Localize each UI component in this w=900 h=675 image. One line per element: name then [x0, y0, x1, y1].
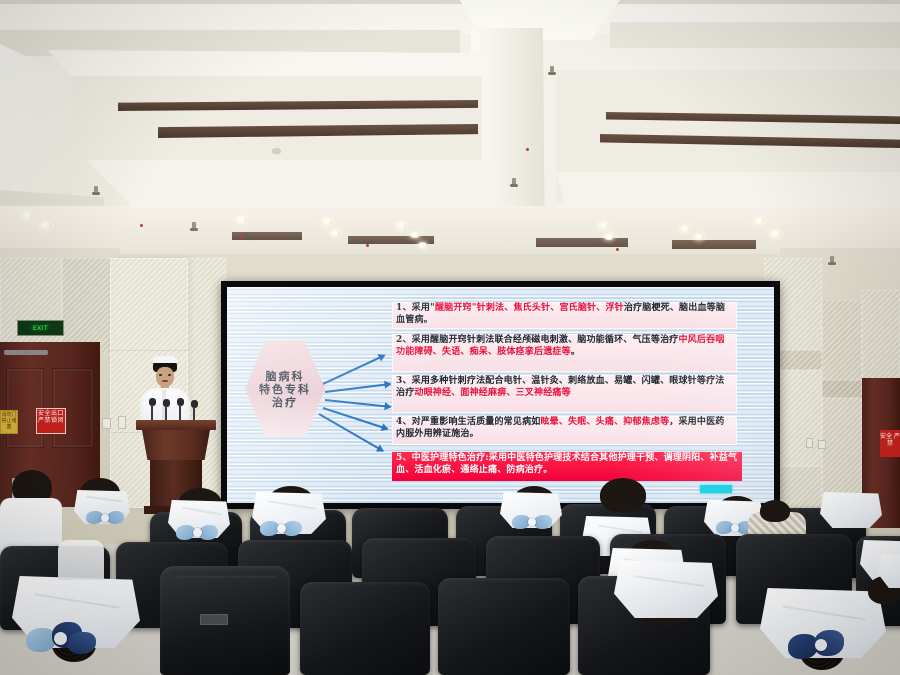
- cap-bow: [260, 520, 302, 537]
- bullet-text-3: 3、采用多种针刺疗法配合电针、温针灸、刺络放血、易罐、闪罐、眼球针等疗法治疗动眼…: [396, 376, 733, 399]
- slide-bullet: 3、采用多种针刺疗法配合电针、温针灸、刺络放血、易罐、闪罐、眼球针等疗法治疗动眼…: [392, 375, 737, 413]
- bullet-seg-red: 醒脑开窍"针刺法、焦氏头针、宫氏脑针、浮针: [435, 303, 624, 313]
- hex-title-line: 脑病科: [266, 370, 305, 383]
- power-outlet[interactable]: [818, 440, 826, 449]
- connector-arrow: [325, 383, 391, 393]
- wall-panel: [822, 380, 862, 398]
- hex-title-line: 特色专科: [259, 383, 311, 396]
- ceiling-downlight: [754, 218, 764, 224]
- ceiling-downlight: [330, 230, 340, 236]
- slide-bullet: 2、采用醒脑开窍针刺法联合经颅磁电刺激、脑功能循环、气压等治疗中风后吞咽功能障碍…: [392, 334, 737, 372]
- sprinkler-head: [192, 222, 196, 230]
- bullet-text-2: 2、采用醒脑开窍针刺法联合经颅磁电刺激、脑功能循环、气压等治疗中风后吞咽功能障碍…: [396, 335, 733, 358]
- slide-bullet-highlighted: 5、中医护理特色治疗:采用中医特色护理技术结合其他护理干预、调理阴阳、补益气血、…: [392, 452, 742, 481]
- bullet-seg: 4、对严重影响生活质量的常见病如: [396, 417, 540, 427]
- connector-arrow: [323, 354, 385, 385]
- presenter-face: [156, 367, 174, 387]
- bullet-seg: 5、中医护理特色治疗:采用中医特色护理技术结合其他护理干预、调理阴阳、补益气血、…: [396, 453, 737, 475]
- smoke-detector: [272, 148, 281, 153]
- ceiling-downlight: [236, 216, 247, 223]
- door-closer: [4, 350, 48, 355]
- bullet-seg-red: 动眼神经、面神经麻痹、三叉神经痛等: [414, 388, 570, 398]
- connector-arrow: [325, 399, 391, 408]
- podium-top: [136, 420, 216, 430]
- ceiling-downlight: [322, 218, 332, 225]
- bullet-text-5: 5、中医护理特色治疗:采用中医特色护理技术结合其他护理干预、调理阴阳、补益气血、…: [396, 453, 738, 476]
- ceiling-downlight: [396, 222, 406, 229]
- attendee-head: [600, 478, 646, 512]
- connector-arrow: [323, 407, 388, 430]
- slide-hexagon-title: 脑病科 特色专科 治疗: [245, 341, 325, 437]
- bullet-text-1: 1、采用"醒脑开窍"针刺法、焦氏头针、宫氏脑针、浮针治疗脑梗死、脑出血等脑血管病…: [396, 303, 733, 326]
- connector-arrow: [319, 413, 384, 452]
- wall-panel: [822, 398, 862, 508]
- exit-sign-label: EXIT: [33, 325, 48, 332]
- nurse-cap: [820, 492, 882, 528]
- wall-panel: [862, 290, 900, 380]
- right-door-sign: 安全 严禁: [880, 430, 900, 457]
- ceiling-downlight: [694, 234, 704, 240]
- cap-bow: [512, 514, 552, 530]
- ceiling-downlight: [410, 232, 420, 238]
- sprinkler-head: [94, 186, 98, 194]
- slide-bullet: 1、采用"醒脑开窍"针刺法、焦氏头针、宫氏脑针、浮针治疗脑梗死、脑出血等脑血管病…: [392, 302, 737, 329]
- sprinkler-head: [550, 66, 554, 74]
- ceiling-downlight: [770, 230, 781, 237]
- door-sign-red: 安全出口 严禁锁闭: [36, 408, 66, 434]
- power-outlet[interactable]: [806, 438, 813, 448]
- chair[interactable]: [300, 582, 430, 675]
- ceiling-downlight: [598, 222, 609, 229]
- cap-bow: [176, 524, 218, 541]
- ceiling-downlight: [40, 222, 51, 229]
- screen-cyan-badge: [700, 485, 732, 493]
- hex-title-line: 治疗: [272, 396, 298, 409]
- presenter-nurse-cap: [152, 356, 178, 363]
- wall-panel: [0, 258, 62, 354]
- chair[interactable]: [438, 578, 570, 675]
- sprinkler-head: [512, 178, 516, 186]
- cap-bow: [86, 510, 124, 525]
- bullet-seg: 。: [571, 347, 580, 357]
- bullet-seg-red: 眩晕、失眠、头痛、抑郁焦虑等: [540, 417, 669, 427]
- jacket-label: [200, 614, 228, 625]
- ceiling-downlight: [22, 212, 33, 219]
- door-sign-yellow: 消防门 禁止堵塞: [0, 410, 18, 434]
- bullet-text-4: 4、对严重影响生活质量的常见病如眩晕、失眠、头痛、抑郁焦虑等，采用中医药内服外用…: [396, 417, 733, 440]
- led-screen[interactable]: 脑病科 特色专科 治疗 1、采用"醒脑开窍"针刺法、焦氏头针、宫氏脑针、浮针治疗…: [227, 287, 774, 503]
- light-switch[interactable]: [102, 418, 111, 429]
- bullet-seg: 1、采用": [396, 303, 435, 313]
- attendee-head: [760, 500, 790, 522]
- photo-scene: 安全 严禁 EXIT 消防门 禁止堵塞 安全出口 严禁锁闭 脑病科 特色专科 治…: [0, 0, 900, 675]
- light-switch[interactable]: [118, 416, 126, 429]
- ceiling-downlight: [680, 226, 690, 232]
- sprinkler-head: [830, 256, 834, 264]
- wall-panel: [822, 300, 862, 380]
- nurse-cap: [614, 560, 718, 618]
- ceiling-downlight: [418, 242, 427, 248]
- ceiling: [0, 0, 900, 290]
- podium: [142, 430, 210, 460]
- exit-sign: EXIT: [17, 320, 64, 336]
- attendee-uniform: [58, 540, 104, 580]
- cap-bow: [788, 630, 860, 662]
- ceiling-downlight: [604, 234, 614, 240]
- cap-bow: [26, 622, 100, 654]
- bullet-seg: 2、采用醒脑开窍针刺法联合经颅磁电刺激、脑功能循环、气压等治疗: [396, 335, 678, 345]
- slide-bullet: 4、对严重影响生活质量的常见病如眩晕、失眠、头痛、抑郁焦虑等，采用中医药内服外用…: [392, 416, 737, 445]
